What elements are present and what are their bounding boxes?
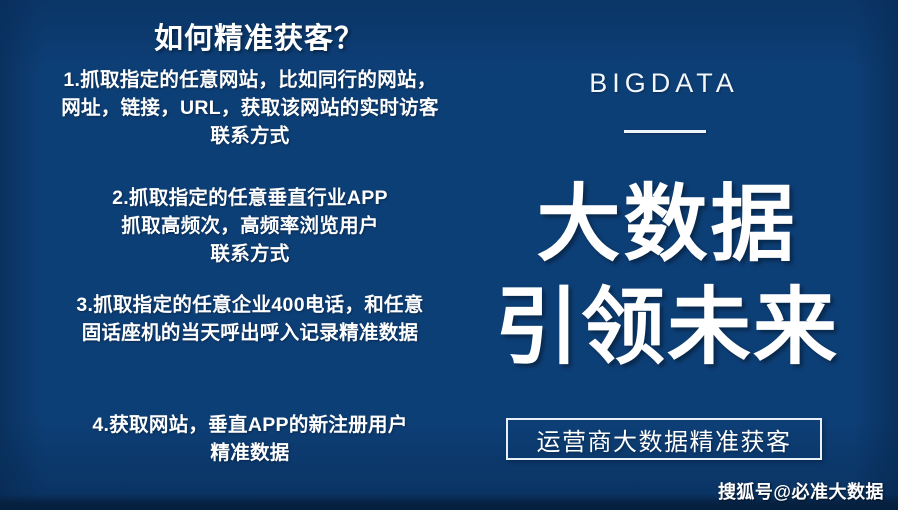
poster-canvas: 如何精准获客？ 1.抓取指定的任意网站，比如同行的网站， 网址，链接，URL，获… (0, 0, 898, 510)
divider-rule (624, 130, 706, 133)
left-content-column: 如何精准获客？ 1.抓取指定的任意网站，比如同行的网站， 网址，链接，URL，获… (0, 0, 500, 510)
watermark: 搜狐号@必准大数据 (718, 478, 884, 504)
list-item: 2.抓取指定的任意垂直行业APP 抓取高频次，高频率浏览用户 联系方式 (8, 184, 492, 268)
headline-line-1: 大数据 (460, 178, 874, 270)
list-item-line: 3.抓取指定的任意企业400电话，和任意 (8, 291, 492, 319)
tagline-text: 运营商大数据精准获客 (537, 422, 792, 457)
list-item-line: 网址，链接，URL，获取该网站的实时访客 (8, 94, 492, 122)
list-item-line: 1.抓取指定的任意网站，比如同行的网站， (8, 66, 492, 94)
eyebrow-bigdata: BIGDATA (460, 68, 868, 99)
headline-line-2: 引领未来 (460, 281, 874, 373)
tagline-box: 运营商大数据精准获客 (506, 418, 822, 460)
right-content-column: BIGDATA 大数据 引领未来 运营商大数据精准获客 (460, 0, 898, 510)
list-item-line: 4.获取网站，垂直APP的新注册用户 (8, 411, 492, 439)
list-item-line: 2.抓取指定的任意垂直行业APP (8, 184, 492, 212)
list-item-line: 精准数据 (8, 439, 492, 467)
list-item: 1.抓取指定的任意网站，比如同行的网站， 网址，链接，URL，获取该网站的实时访… (8, 66, 492, 150)
list-item: 3.抓取指定的任意企业400电话，和任意 固话座机的当天呼出呼入记录精准数据 (8, 291, 492, 347)
left-title: 如何精准获客？ (0, 15, 500, 57)
list-item-line: 固话座机的当天呼出呼入记录精准数据 (8, 319, 492, 347)
list-item: 4.获取网站，垂直APP的新注册用户 精准数据 (8, 411, 492, 467)
list-item-line: 联系方式 (8, 122, 492, 150)
list-item-line: 联系方式 (8, 240, 492, 268)
list-item-line: 抓取高频次，高频率浏览用户 (8, 212, 492, 240)
